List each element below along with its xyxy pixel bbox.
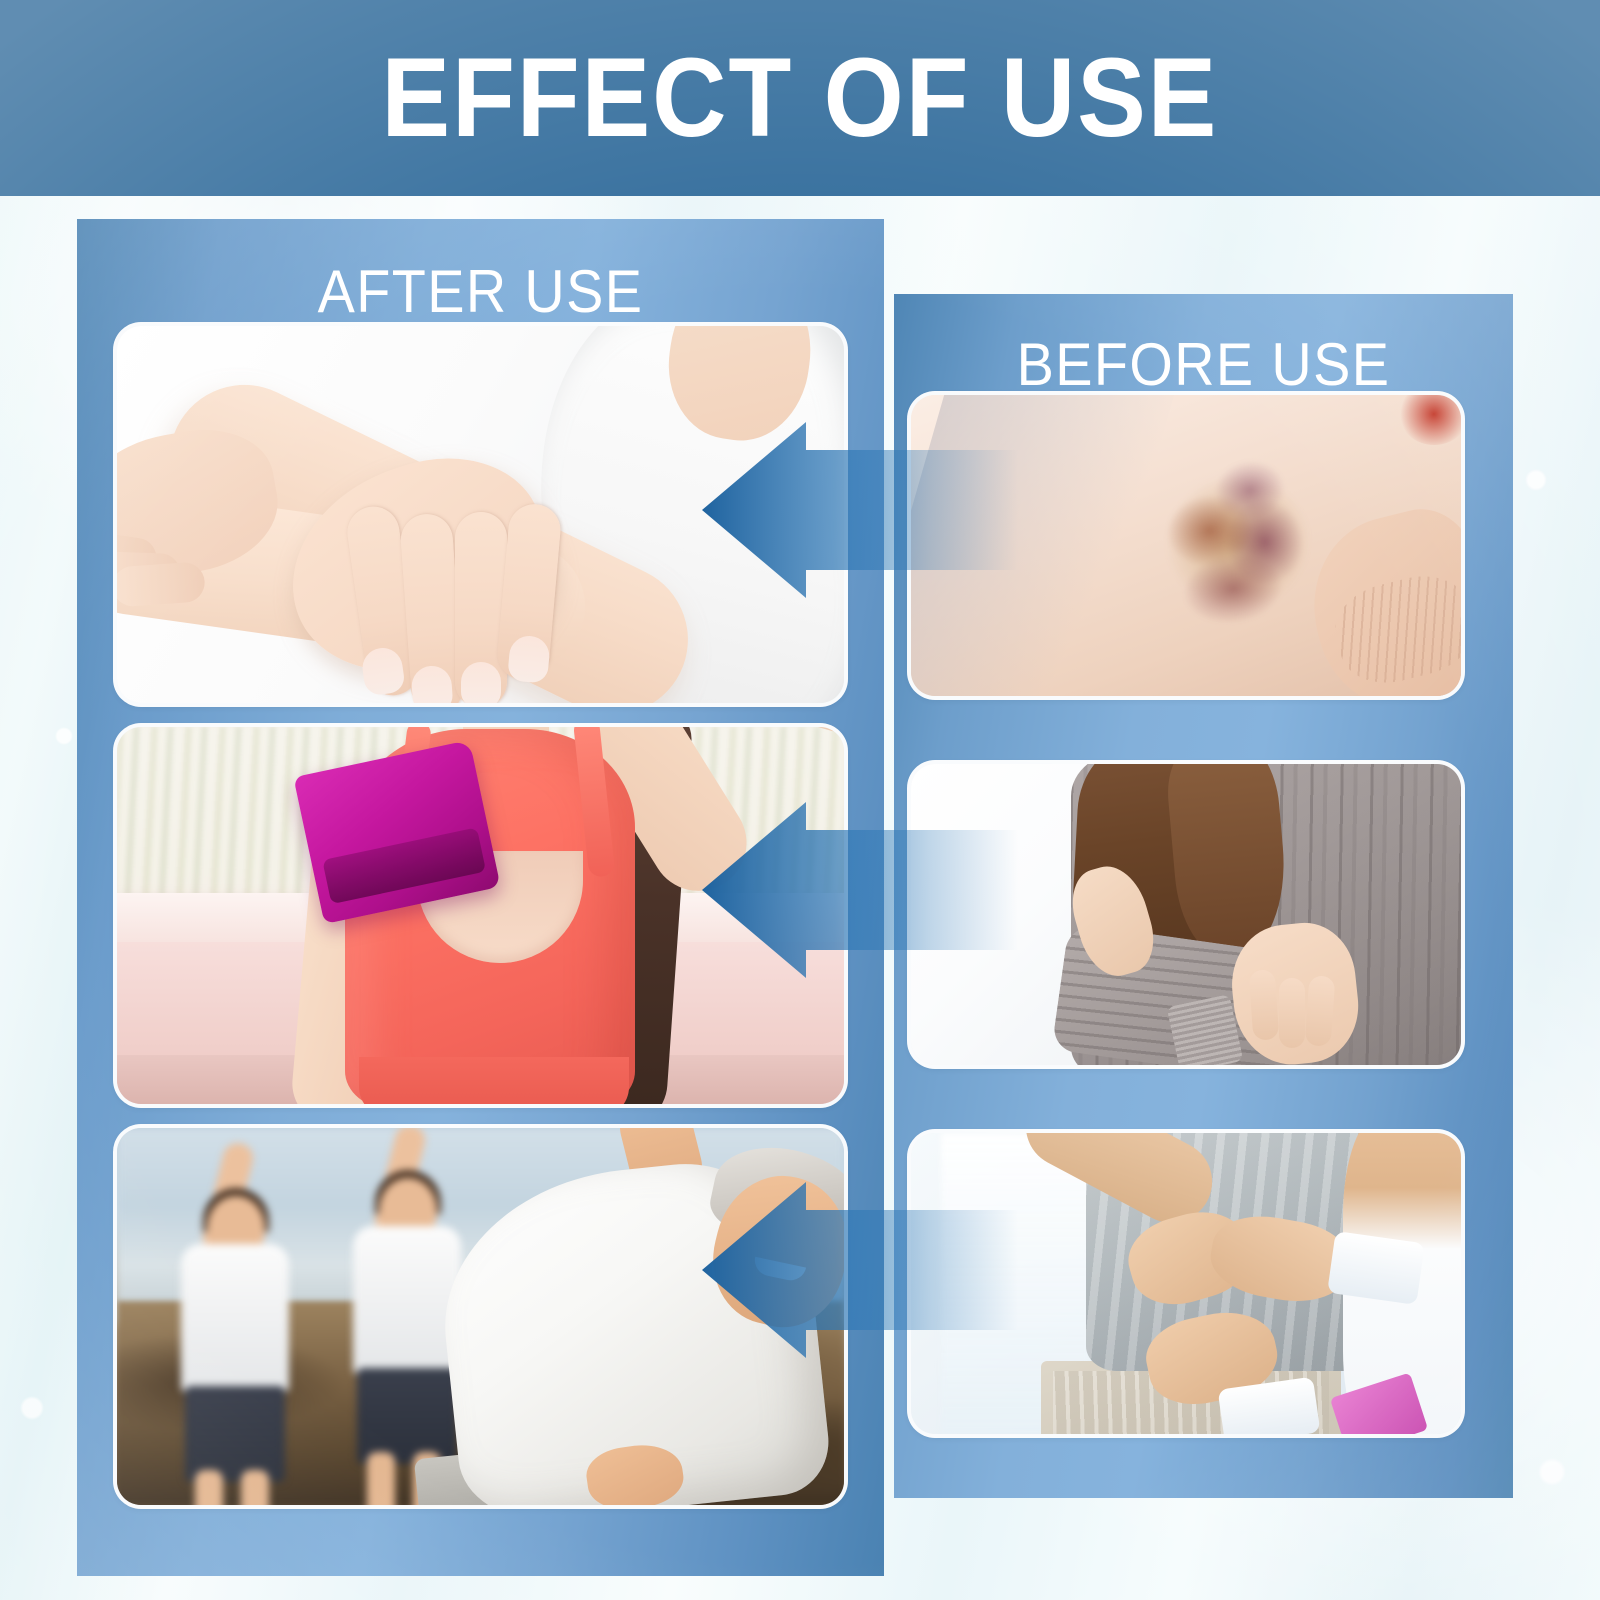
finger-shape (1279, 978, 1305, 1048)
photo-woman-arm-pain (911, 764, 1461, 1065)
smooth-forearm-illustration (117, 326, 844, 703)
after-use-panel: AFTER USE (77, 219, 884, 1576)
arm-pain-illustration (911, 764, 1461, 1065)
white-coat-cuff-shape (1327, 1231, 1425, 1305)
photo-senior-man-beach-exercise (117, 1128, 844, 1505)
photo-lower-back-examination (911, 1133, 1461, 1434)
after-use-label: AFTER USE (105, 257, 856, 326)
finger-shape (1249, 969, 1280, 1041)
before-use-panel: BEFORE USE (894, 294, 1513, 1498)
background-person-shape (163, 1178, 313, 1478)
photo-smooth-forearm-massage (117, 326, 844, 703)
photo-bruised-skin-closeup (911, 395, 1461, 696)
before-use-label: BEFORE USE (916, 330, 1492, 399)
header-banner: EFFECT OF USE (0, 0, 1600, 196)
woman-towel-illustration (117, 727, 844, 1104)
beach-exercise-illustration (117, 1128, 844, 1505)
bruise-illustration (911, 395, 1461, 696)
photo-woman-stretching-with-towel (117, 727, 844, 1104)
finger-shape (1305, 975, 1336, 1047)
tank-waist-shape (359, 1057, 629, 1104)
back-exam-illustration (911, 1133, 1461, 1434)
fingernail-shape (461, 662, 501, 703)
page-title: EFFECT OF USE (382, 42, 1219, 154)
infographic-canvas: EFFECT OF USE AFTER USE (0, 0, 1600, 1600)
